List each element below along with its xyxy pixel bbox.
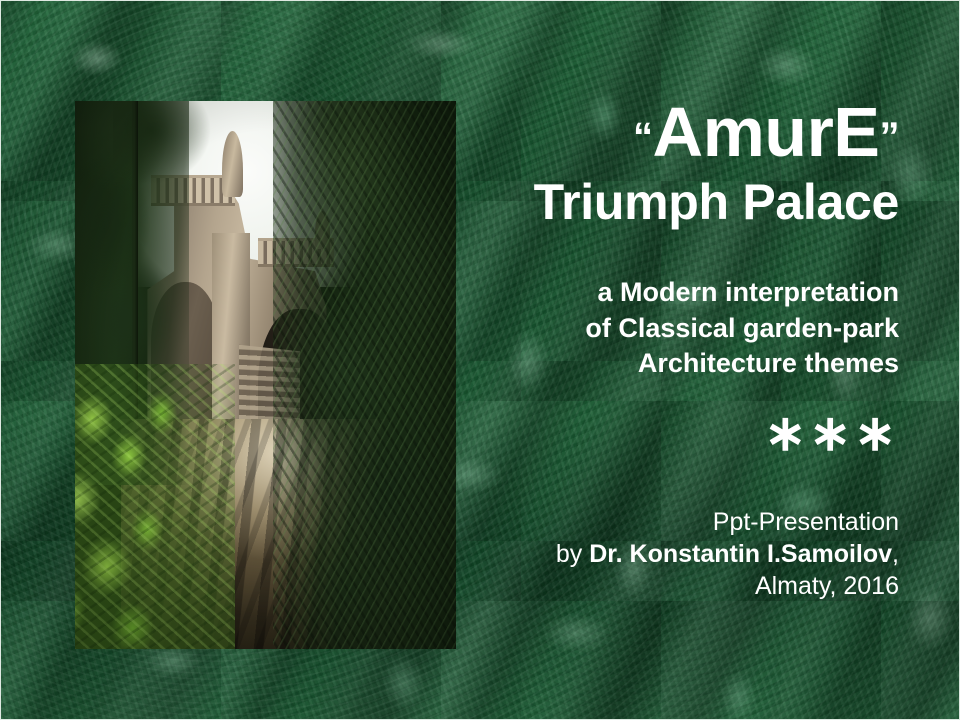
credits-block: Ppt-Presentation by Dr. Konstantin I.Sam…	[471, 506, 899, 602]
credits-place-year: Almaty, 2016	[471, 570, 899, 602]
title-second-line: Triumph Palace	[471, 175, 899, 229]
photograph-content	[75, 101, 456, 649]
asterisk-separator: ∗∗∗	[471, 408, 899, 458]
photo-vignette	[75, 101, 456, 649]
presentation-title-slide: “AmurE” Triumph Palace a Modern interpre…	[0, 0, 960, 720]
subtitle-line-2: of Classical garden-park	[471, 311, 899, 347]
credits-author-suffix: ,	[892, 540, 899, 568]
subtitle-line-3: Architecture themes	[471, 346, 899, 382]
credits-author: Dr. Konstantin I.Samoilov	[589, 540, 892, 568]
title-text-column: “AmurE” Triumph Palace a Modern interpre…	[471, 97, 899, 602]
subtitle-block: a Modern interpretation of Classical gar…	[471, 275, 899, 382]
page-title: “AmurE”	[471, 97, 899, 167]
title-name: AmurE	[653, 93, 880, 171]
credits-by-prefix: by	[556, 540, 589, 568]
credits-author-line: by Dr. Konstantin I.Samoilov,	[471, 538, 899, 570]
title-open-quote: “	[633, 115, 653, 159]
subtitle-line-1: a Modern interpretation	[471, 275, 899, 311]
credits-kind: Ppt-Presentation	[471, 506, 899, 538]
title-photograph	[75, 101, 456, 649]
title-close-quote: ”	[880, 115, 900, 159]
